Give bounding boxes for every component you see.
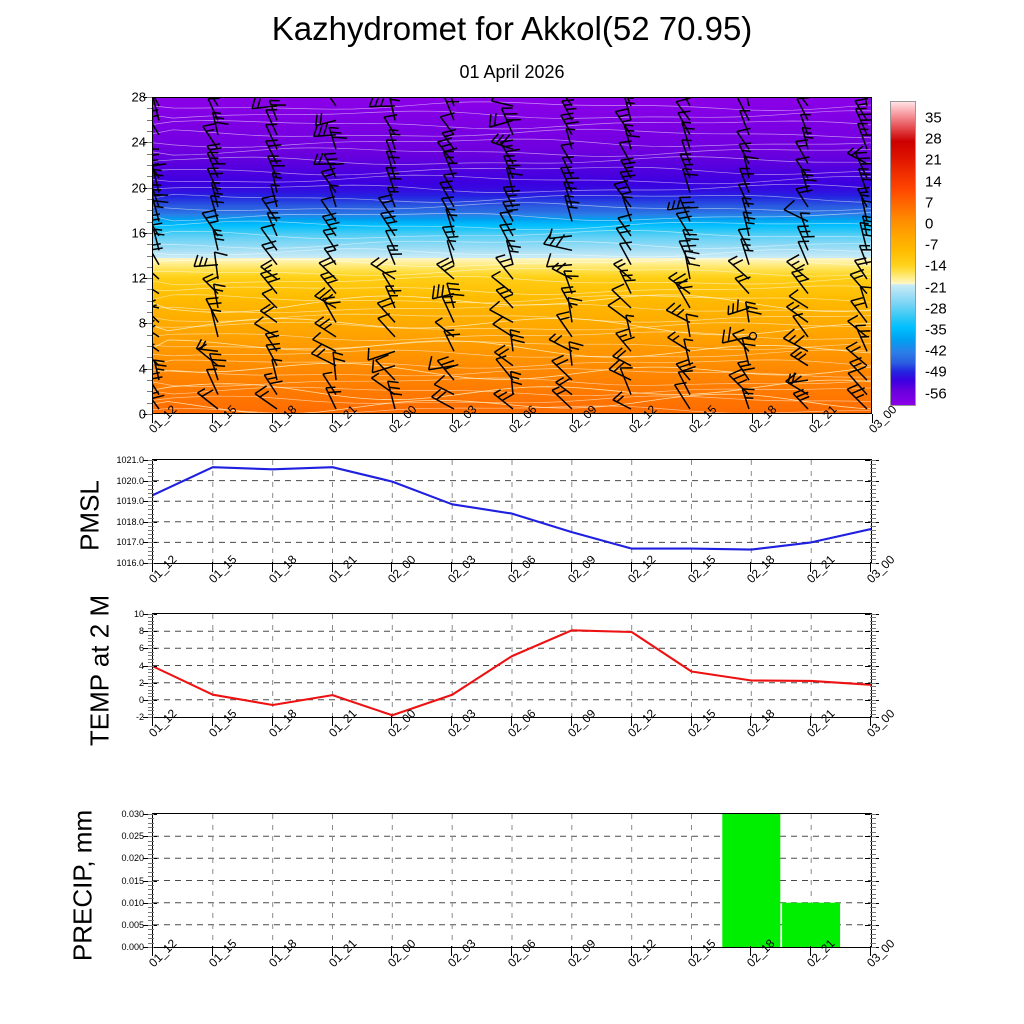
temp2m-y-tick-label: 8 [94,626,144,636]
cross-section-y-minor-tick [147,391,152,392]
cross-section-y-tick-label: 0 [108,407,146,422]
temp2m-y-minor-tick [148,686,154,687]
temp2m-y-minor-tick-right [870,690,876,691]
cross-section-y-minor-tick [147,244,152,245]
cross-section-y-minor-tick [147,199,152,200]
colorbar-tick-label: -49 [925,364,947,381]
temp2m-y-minor-tick-right [870,641,876,642]
temp2m-y-minor-tick-right [870,614,876,615]
pmsl-y-minor-tick [148,551,154,552]
precip-y-minor-tick [148,867,154,868]
temp2m-y-minor-tick-right [870,662,876,663]
pmsl-y-minor-tick [148,547,154,548]
temp2m-y-minor-tick-right [870,676,876,677]
pmsl-y-tick-label: 1017.0 [94,537,144,547]
precip-y-minor-tick [148,836,154,837]
precip-y-minor-tick-right [870,916,876,917]
cross-section-y-minor-tick [147,256,152,257]
pmsl-y-minor-tick [148,526,154,527]
pmsl-canvas [153,460,871,563]
temp2m-y-minor-tick [148,655,154,656]
temp2m-y-minor-tick-right [870,638,876,639]
cross-section-y-minor-tick [147,120,152,121]
pmsl-y-minor-tick-right [870,534,876,535]
colorbar-tick-label: 14 [925,173,942,190]
pmsl-y-minor-tick [148,514,154,515]
precip-y-minor-tick [148,827,154,828]
cross-section-y-minor-tick [147,176,152,177]
cross-section-y-minor-tick [147,142,152,143]
temp2m-y-minor-tick [148,621,154,622]
cross-section-y-tick-label: 20 [108,180,146,195]
temp2m-y-tick-label: 6 [94,643,144,653]
precip-y-minor-tick-right [870,912,876,913]
pmsl-y-minor-tick [148,460,154,461]
cross-section-y-minor-tick [147,380,152,381]
colorbar-tick-label: -28 [925,300,947,317]
pmsl-y-minor-tick-right [870,538,876,539]
pmsl-y-minor-tick-right [870,493,876,494]
pmsl-y-minor-tick-right [870,526,876,527]
pmsl-y-minor-tick [148,472,154,473]
pmsl-y-minor-tick [148,559,154,560]
precip-y-minor-tick-right [870,881,876,882]
temp2m-y-minor-tick-right [870,635,876,636]
temp2m-y-minor-tick-right [870,628,876,629]
pmsl-y-minor-tick [148,534,154,535]
colorbar-tick-label: 0 [925,216,933,233]
precip-y-minor-tick [148,863,154,864]
pmsl-y-minor-tick-right [870,514,876,515]
cross-section-y-minor-tick [147,154,152,155]
pmsl-y-minor-tick-right [870,547,876,548]
temp2m-y-minor-tick [148,714,154,715]
pmsl-y-minor-tick-right [870,485,876,486]
temp2m-y-minor-tick [148,693,154,694]
cross-section-y-minor-tick [147,403,152,404]
cross-section-y-tick-label: 24 [108,135,146,150]
temp2m-y-minor-tick [148,690,154,691]
precip-y-minor-tick-right [870,827,876,828]
cross-section-y-minor-tick [147,323,152,324]
precip-y-minor-tick-right [870,898,876,899]
pmsl-y-minor-tick [148,489,154,490]
temp2m-y-minor-tick-right [870,672,876,673]
pmsl-y-minor-tick-right [870,472,876,473]
pmsl-y-minor-tick-right [870,460,876,461]
precip-y-minor-tick-right [870,885,876,886]
temp2m-canvas [153,614,871,717]
cross-section-y-minor-tick [147,278,152,279]
pmsl-y-minor-tick-right [870,518,876,519]
pmsl-y-minor-tick-right [870,481,876,482]
cross-section-y-minor-tick [147,165,152,166]
temp2m-y-minor-tick [148,679,154,680]
temp2m-y-tick-label: 2 [94,678,144,688]
precip-y-tick-label: 0.030 [94,809,144,819]
temp2m-y-minor-tick-right [870,659,876,660]
precip-y-minor-tick [148,885,154,886]
pmsl-y-minor-tick [148,563,154,564]
pmsl-y-minor-tick [148,542,154,543]
cross-section-canvas [153,98,872,414]
cross-section-y-minor-tick [147,312,152,313]
colorbar-tick-label: 35 [925,110,942,127]
precip-axis-label: PRECIP, mm [68,771,99,1001]
colorbar-tick-label: -56 [925,385,947,402]
precip-y-minor-tick [148,823,154,824]
precip-y-minor-tick [148,832,154,833]
pmsl-y-minor-tick [148,501,154,502]
temp2m-y-minor-tick [148,645,154,646]
precip-y-minor-tick-right [870,845,876,846]
temp2m-y-minor-tick-right [870,645,876,646]
temp2m-y-minor-tick-right [870,669,876,670]
precip-y-minor-tick [148,947,154,948]
temp2m-y-minor-tick [148,666,154,667]
precip-y-minor-tick-right [870,814,876,815]
precip-y-minor-tick-right [870,876,876,877]
cross-section-y-tick-label: 12 [108,271,146,286]
pmsl-y-minor-tick-right [870,497,876,498]
pmsl-y-minor-tick-right [870,476,876,477]
temp2m-y-minor-tick-right [870,631,876,632]
pmsl-plot[interactable] [152,459,872,564]
precip-y-minor-tick-right [870,854,876,855]
precip-y-minor-tick [148,872,154,873]
pmsl-y-tick-label: 1019.0 [94,496,144,506]
temp2m-y-minor-tick [148,696,154,697]
cross-section-y-minor-tick [147,188,152,189]
page-title: Kazhydromet for Akkol(52 70.95) [0,10,1024,48]
precip-y-minor-tick [148,845,154,846]
precip-y-minor-tick [148,925,154,926]
precip-plot[interactable] [152,813,872,948]
pmsl-y-minor-tick [148,481,154,482]
precip-y-minor-tick [148,894,154,895]
precip-y-minor-tick [148,898,154,899]
precip-y-minor-tick [148,854,154,855]
cross-section-y-tick-label: 8 [108,316,146,331]
temp2m-y-minor-tick [148,683,154,684]
temp2m-y-minor-tick [148,669,154,670]
colorbar-tick-label: -14 [925,258,947,275]
precip-y-minor-tick-right [870,818,876,819]
precip-y-minor-tick-right [870,943,876,944]
precip-y-minor-tick [148,912,154,913]
pmsl-y-minor-tick-right [870,555,876,556]
precip-y-tick-label: 0.000 [94,942,144,952]
pmsl-y-minor-tick-right [870,468,876,469]
precip-y-minor-tick [148,818,154,819]
cross-section-y-minor-tick [147,346,152,347]
precip-y-minor-tick-right [870,907,876,908]
cross-section-y-minor-tick [147,267,152,268]
colorbar[interactable] [890,101,916,406]
precip-y-minor-tick-right [870,858,876,859]
precip-y-minor-tick-right [870,934,876,935]
pmsl-y-minor-tick [148,497,154,498]
temp2m-y-minor-tick-right [870,679,876,680]
temp2m-y-minor-tick-right [870,683,876,684]
pmsl-y-minor-tick [148,555,154,556]
cross-section-y-minor-tick [147,97,152,98]
precip-canvas [153,814,871,947]
precip-y-minor-tick-right [870,841,876,842]
cross-section-y-tick-label: 28 [108,90,146,105]
temp2m-y-minor-tick [148,614,154,615]
temp2m-y-minor-tick [148,710,154,711]
temp2m-y-minor-tick [148,617,154,618]
pmsl-y-tick-label: 1020.0 [94,476,144,486]
cross-section-y-tick-label: 16 [108,225,146,240]
temp2m-y-minor-tick-right [870,693,876,694]
colorbar-tick-label: 21 [925,152,942,169]
temp2m-y-minor-tick [148,628,154,629]
temp2m-y-minor-tick-right [870,703,876,704]
precip-y-minor-tick-right [870,929,876,930]
pmsl-y-minor-tick-right [870,509,876,510]
temp2m-y-minor-tick [148,703,154,704]
pmsl-y-minor-tick [148,505,154,506]
pmsl-y-minor-tick [148,464,154,465]
precip-y-minor-tick [148,858,154,859]
temp2m-y-tick-label: 10 [94,609,144,619]
precip-y-minor-tick [148,938,154,939]
pmsl-y-minor-tick-right [870,542,876,543]
pmsl-y-minor-tick [148,476,154,477]
precip-y-minor-tick [148,929,154,930]
precip-y-tick-label: 0.010 [94,898,144,908]
precip-y-minor-tick-right [870,903,876,904]
temp2m-y-minor-tick [148,652,154,653]
precip-y-minor-tick [148,814,154,815]
pmsl-y-minor-tick-right [870,551,876,552]
pmsl-y-minor-tick [148,538,154,539]
cross-section-y-minor-tick [147,369,152,370]
precip-y-minor-tick-right [870,920,876,921]
temp2m-y-minor-tick-right [870,655,876,656]
temp2m-y-minor-tick [148,635,154,636]
cross-section-y-minor-tick [147,210,152,211]
colorbar-tick-label: -21 [925,279,947,296]
temp2m-axis-label: TEMP at 2 M [85,556,116,786]
temp2m-y-minor-tick-right [870,714,876,715]
precip-y-minor-tick [148,903,154,904]
temp2m-y-minor-tick [148,624,154,625]
precip-y-minor-tick-right [870,925,876,926]
pmsl-y-minor-tick [148,518,154,519]
temp2m-y-minor-tick [148,648,154,649]
temp2m-y-minor-tick-right [870,648,876,649]
precip-y-minor-tick [148,943,154,944]
temp2m-y-minor-tick [148,659,154,660]
cross-section-y-minor-tick [147,222,152,223]
pmsl-y-minor-tick [148,493,154,494]
temp2m-y-tick-label: -2 [94,712,144,722]
temp2m-y-minor-tick-right [870,686,876,687]
cross-section-y-minor-tick [147,131,152,132]
pmsl-y-minor-tick [148,509,154,510]
temp2m-y-minor-tick [148,676,154,677]
precip-y-minor-tick-right [870,894,876,895]
cross-section-y-minor-tick [147,289,152,290]
pmsl-y-minor-tick-right [870,489,876,490]
precip-y-tick-label: 0.015 [94,876,144,886]
colorbar-tick-label: 28 [925,131,942,148]
precip-y-tick-label: 0.020 [94,853,144,863]
temp2m-y-minor-tick-right [870,624,876,625]
precip-y-minor-tick-right [870,872,876,873]
colorbar-tick-label: -35 [925,322,947,339]
temp2m-y-minor-tick [148,638,154,639]
colorbar-tick-label: -42 [925,343,947,360]
precip-y-minor-tick [148,889,154,890]
precip-y-minor-tick-right [870,832,876,833]
temp2m-y-minor-tick [148,641,154,642]
temp2m-y-minor-tick-right [870,666,876,667]
temp2m-y-tick-label: 0 [94,695,144,705]
pmsl-y-minor-tick [148,468,154,469]
precip-y-minor-tick-right [870,938,876,939]
colorbar-tick-label: -7 [925,237,938,254]
temp2m-y-minor-tick-right [870,696,876,697]
precip-y-minor-tick-right [870,849,876,850]
temp2m-y-minor-tick [148,631,154,632]
precip-y-minor-tick-right [870,867,876,868]
pmsl-y-minor-tick [148,485,154,486]
temp2m-y-minor-tick-right [870,617,876,618]
precip-y-tick-label: 0.005 [94,920,144,930]
pmsl-y-minor-tick-right [870,464,876,465]
pmsl-y-minor-tick-right [870,505,876,506]
precip-y-minor-tick-right [870,863,876,864]
pmsl-y-tick-label: 1018.0 [94,517,144,527]
temp2m-y-minor-tick [148,672,154,673]
temp2m-y-minor-tick-right [870,652,876,653]
cross-section-y-minor-tick [147,357,152,358]
cross-section-y-minor-tick [147,233,152,234]
cross-section-y-minor-tick [147,335,152,336]
temp2m-y-tick-label: 4 [94,661,144,671]
pmsl-y-tick-label: 1021.0 [94,455,144,465]
temp2m-y-minor-tick-right [870,707,876,708]
precip-y-minor-tick [148,849,154,850]
precip-y-minor-tick [148,934,154,935]
temp2m-y-minor-tick [148,717,154,718]
pmsl-y-minor-tick-right [870,559,876,560]
cross-section-y-minor-tick [147,301,152,302]
cross-section-y-tick-label: 4 [108,361,146,376]
pmsl-y-minor-tick-right [870,522,876,523]
temp2m-y-minor-tick-right [870,621,876,622]
colorbar-tick-label: 7 [925,194,933,211]
precip-y-minor-tick-right [870,836,876,837]
temp2m-y-minor-tick-right [870,710,876,711]
cross-section-y-minor-tick [147,108,152,109]
temp2m-plot[interactable] [152,613,872,718]
precip-y-minor-tick-right [870,823,876,824]
pmsl-y-minor-tick-right [870,530,876,531]
pmsl-y-minor-tick-right [870,501,876,502]
temp2m-y-minor-tick-right [870,700,876,701]
cross-section-plot[interactable] [152,97,872,414]
temp2m-y-minor-tick [148,662,154,663]
temp2m-y-minor-tick [148,707,154,708]
pmsl-y-minor-tick [148,530,154,531]
precip-y-minor-tick [148,907,154,908]
precip-y-minor-tick [148,841,154,842]
precip-y-tick-label: 0.025 [94,831,144,841]
precip-y-minor-tick [148,916,154,917]
page-subtitle: 01 April 2026 [0,62,1024,83]
precip-y-minor-tick [148,920,154,921]
pmsl-y-minor-tick [148,522,154,523]
precip-y-minor-tick [148,881,154,882]
precip-y-minor-tick [148,876,154,877]
temp2m-y-minor-tick [148,700,154,701]
precip-y-minor-tick-right [870,889,876,890]
